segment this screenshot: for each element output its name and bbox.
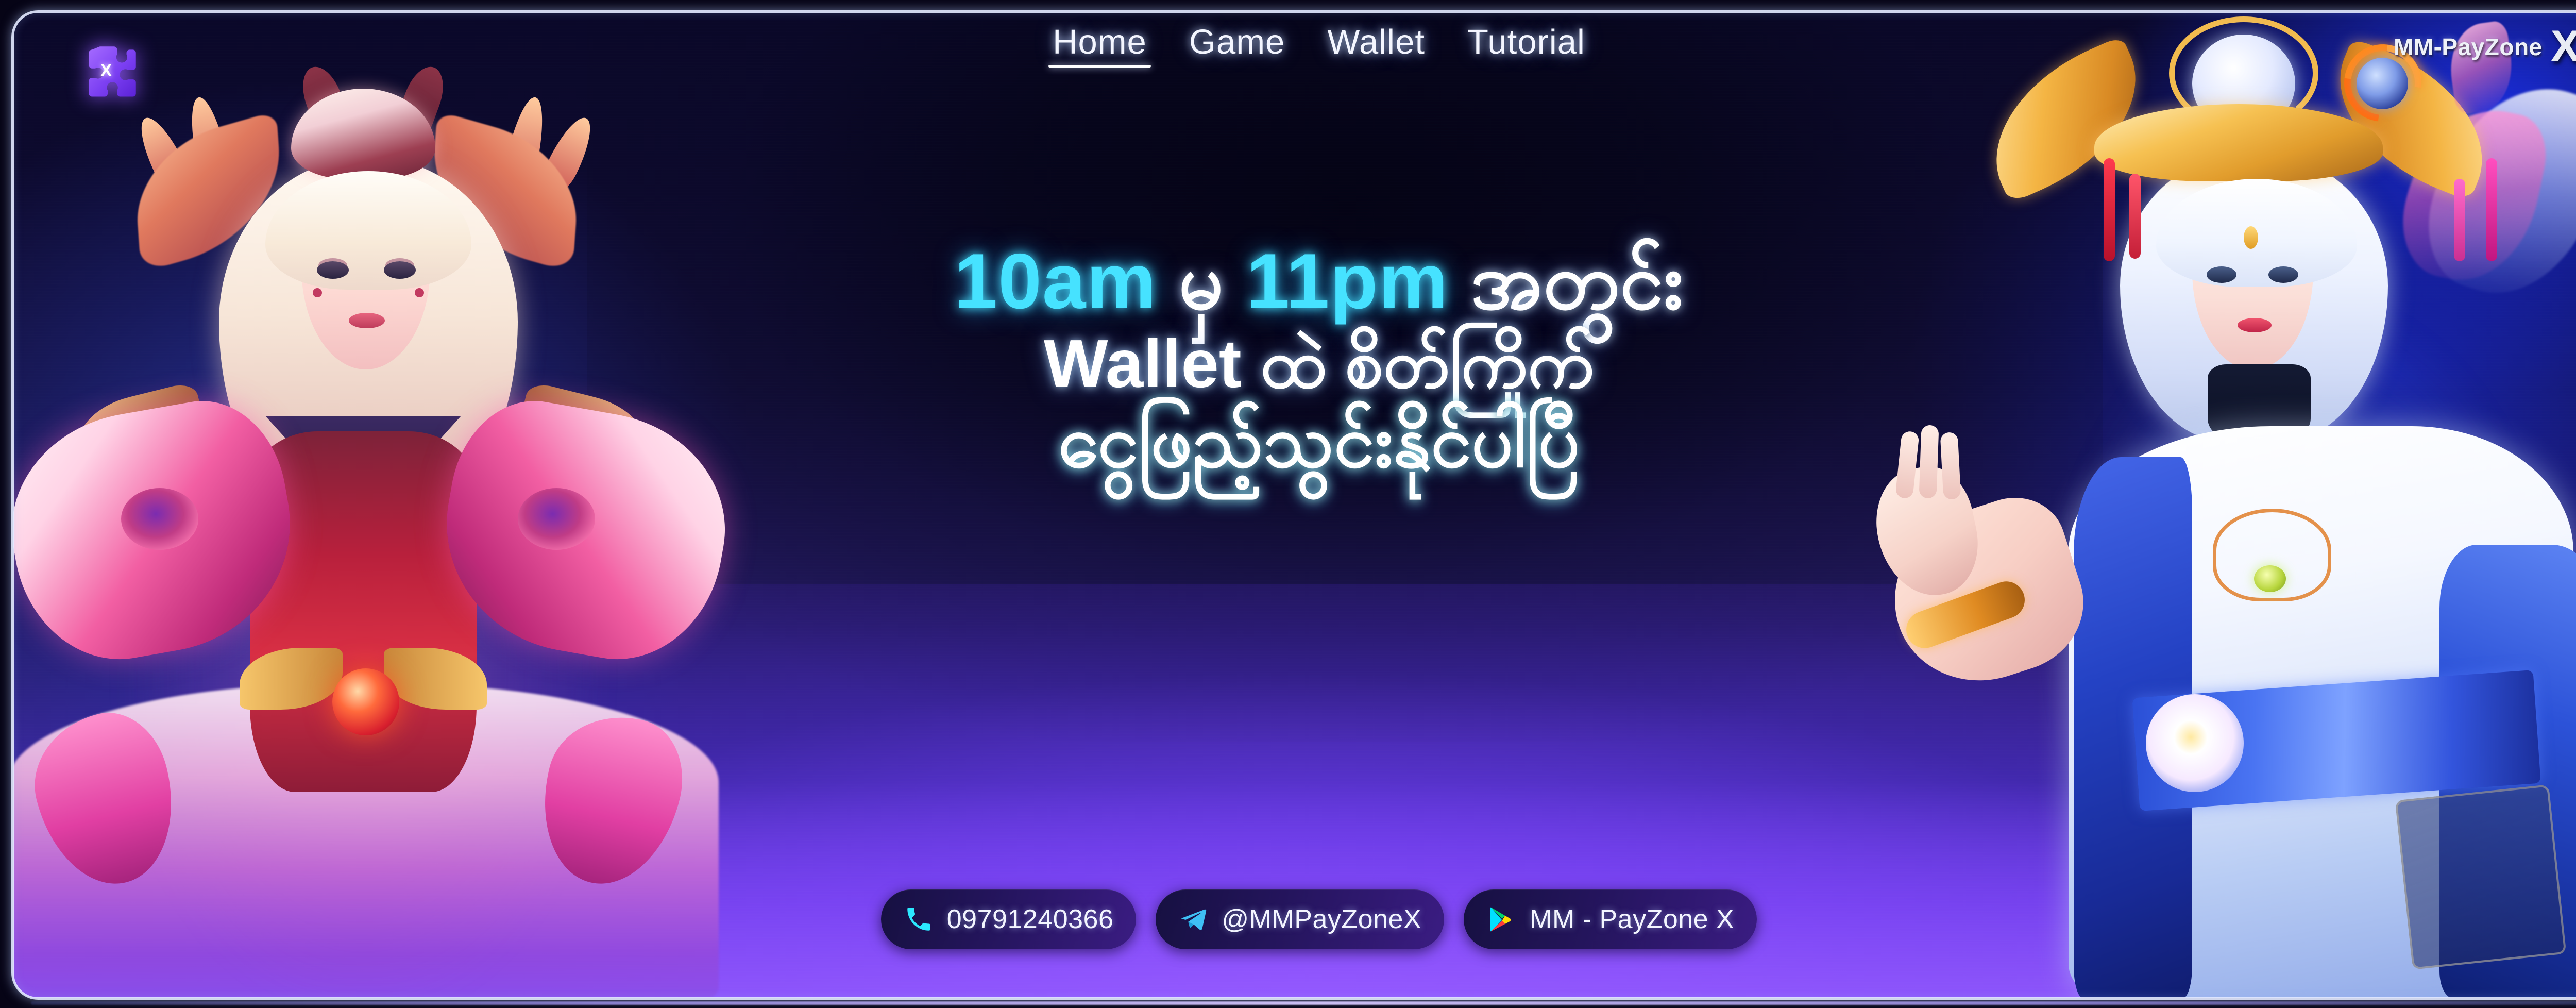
headline-conn-2: အတွင်း	[1471, 238, 1684, 325]
brand-logo[interactable]: MM-PayZone X	[2394, 27, 2576, 66]
promo-banner: X Home Game Wallet Tutorial MM-PayZone X…	[0, 0, 2576, 1008]
phone-number: 09791240366	[947, 904, 1114, 935]
headline-time-start: 10am	[954, 238, 1157, 325]
chest-gem	[2254, 565, 2286, 592]
contact-badges: 09791240366 @MMPayZoneX MM - PayZone X	[0, 889, 2576, 949]
flower-ornament	[2146, 694, 2244, 792]
headline-conn-1: မှ	[1179, 238, 1224, 325]
headline-time-end: 11pm	[1246, 238, 1449, 325]
contact-badge-phone[interactable]: 09791240366	[881, 889, 1137, 949]
banner-background	[13, 12, 2576, 998]
bottom-accent-line	[31, 1001, 2576, 1005]
contact-badge-google-play[interactable]: MM - PayZone X	[1464, 889, 1757, 949]
telegram-handle: @MMPayZoneX	[1222, 904, 1421, 935]
chest-gem	[332, 668, 399, 735]
main-navigation[interactable]: Home Game Wallet Tutorial	[0, 25, 2576, 71]
armor-ornament	[121, 488, 198, 550]
google-play-label: MM - PayZone X	[1530, 904, 1734, 935]
logo-text: MM-PayZone	[2394, 33, 2543, 61]
character-left	[23, 12, 703, 998]
headline-line-1: 10am မှ 11pm အတွင်း	[0, 242, 2576, 321]
nav-item-game[interactable]: Game	[1184, 25, 1290, 71]
headline-line-2: Wallet ထဲ စိတ်ကြိုက်	[0, 330, 2576, 398]
headline-block: 10am မှ 11pm အတွင်း Wallet ထဲ စိတ်ကြိုက်…	[0, 242, 2576, 478]
google-play-icon	[1486, 904, 1516, 934]
telegram-icon	[1178, 904, 1208, 934]
phone-icon	[904, 904, 934, 934]
puzzle-letter: X	[67, 61, 145, 81]
nav-item-wallet[interactable]: Wallet	[1322, 25, 1430, 71]
armor-ornament	[518, 488, 595, 550]
logo-suffix: X	[2551, 27, 2576, 66]
character-right	[1965, 12, 2576, 998]
orb-core	[2357, 58, 2408, 109]
contact-badge-telegram[interactable]: @MMPayZoneX	[1156, 889, 1444, 949]
nav-item-tutorial[interactable]: Tutorial	[1462, 25, 1590, 71]
nav-item-home[interactable]: Home	[1047, 25, 1152, 71]
headline-line-3: ငွေဖြည့်သွင်းနိုင်ပါပြီ	[0, 405, 2576, 478]
puzzle-piece-icon[interactable]: X	[67, 37, 145, 115]
gold-butterfly-crown	[2094, 104, 2383, 181]
